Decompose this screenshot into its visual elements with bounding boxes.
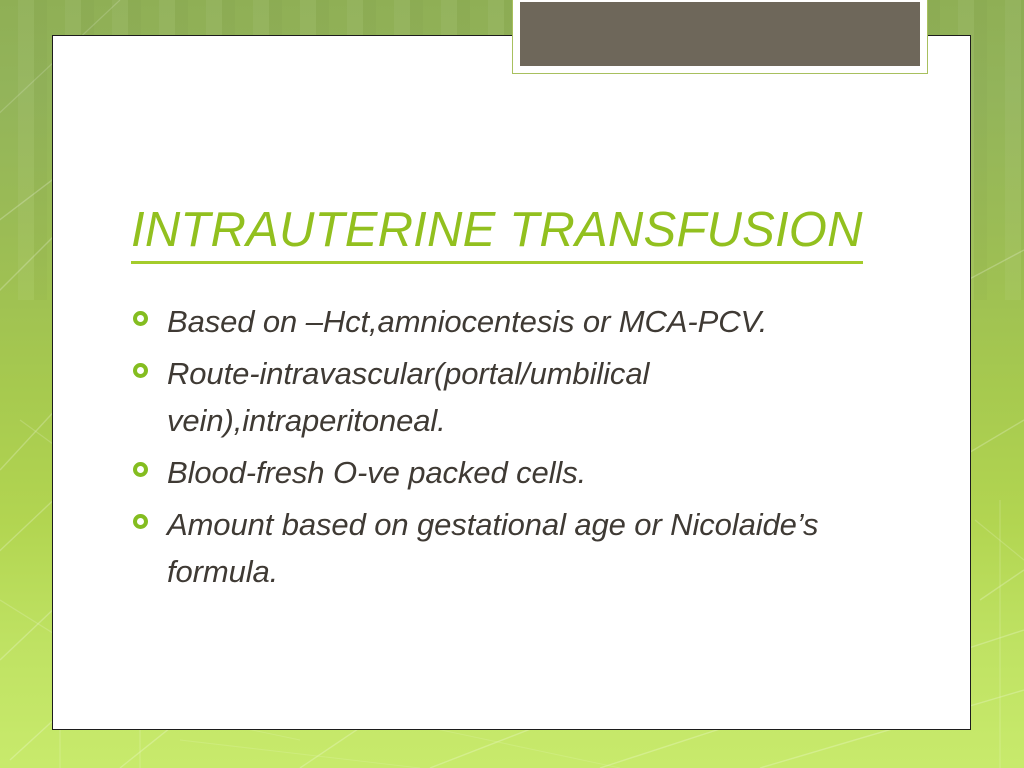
top-accent-fill	[520, 2, 920, 66]
page-title: INTRAUTERINE TRANSFUSION	[131, 204, 921, 264]
list-item-text: Blood-fresh O-ve packed cells.	[167, 449, 871, 496]
page-title-text: INTRAUTERINE TRANSFUSION	[131, 204, 863, 264]
list-item: Blood-fresh O-ve packed cells.	[131, 449, 871, 496]
ring-bullet-icon	[133, 514, 148, 529]
slide: INTRAUTERINE TRANSFUSION Based on –Hct,a…	[0, 0, 1024, 768]
list-item: Based on –Hct,amniocentesis or MCA-PCV.	[131, 298, 871, 345]
bullet-list: Based on –Hct,amniocentesis or MCA-PCV. …	[131, 298, 871, 600]
list-item-text: Route-intravascular(portal/umbilical vei…	[167, 350, 871, 444]
list-item-text: Based on –Hct,amniocentesis or MCA-PCV.	[167, 298, 871, 345]
list-item: Route-intravascular(portal/umbilical vei…	[131, 350, 871, 444]
ring-bullet-icon	[133, 462, 148, 477]
ring-bullet-icon	[133, 363, 148, 378]
list-item-text: Amount based on gestational age or Nicol…	[167, 501, 871, 595]
ring-bullet-icon	[133, 311, 148, 326]
list-item: Amount based on gestational age or Nicol…	[131, 501, 871, 595]
top-accent-block	[512, 0, 928, 74]
slide-content-page: INTRAUTERINE TRANSFUSION Based on –Hct,a…	[52, 35, 971, 730]
